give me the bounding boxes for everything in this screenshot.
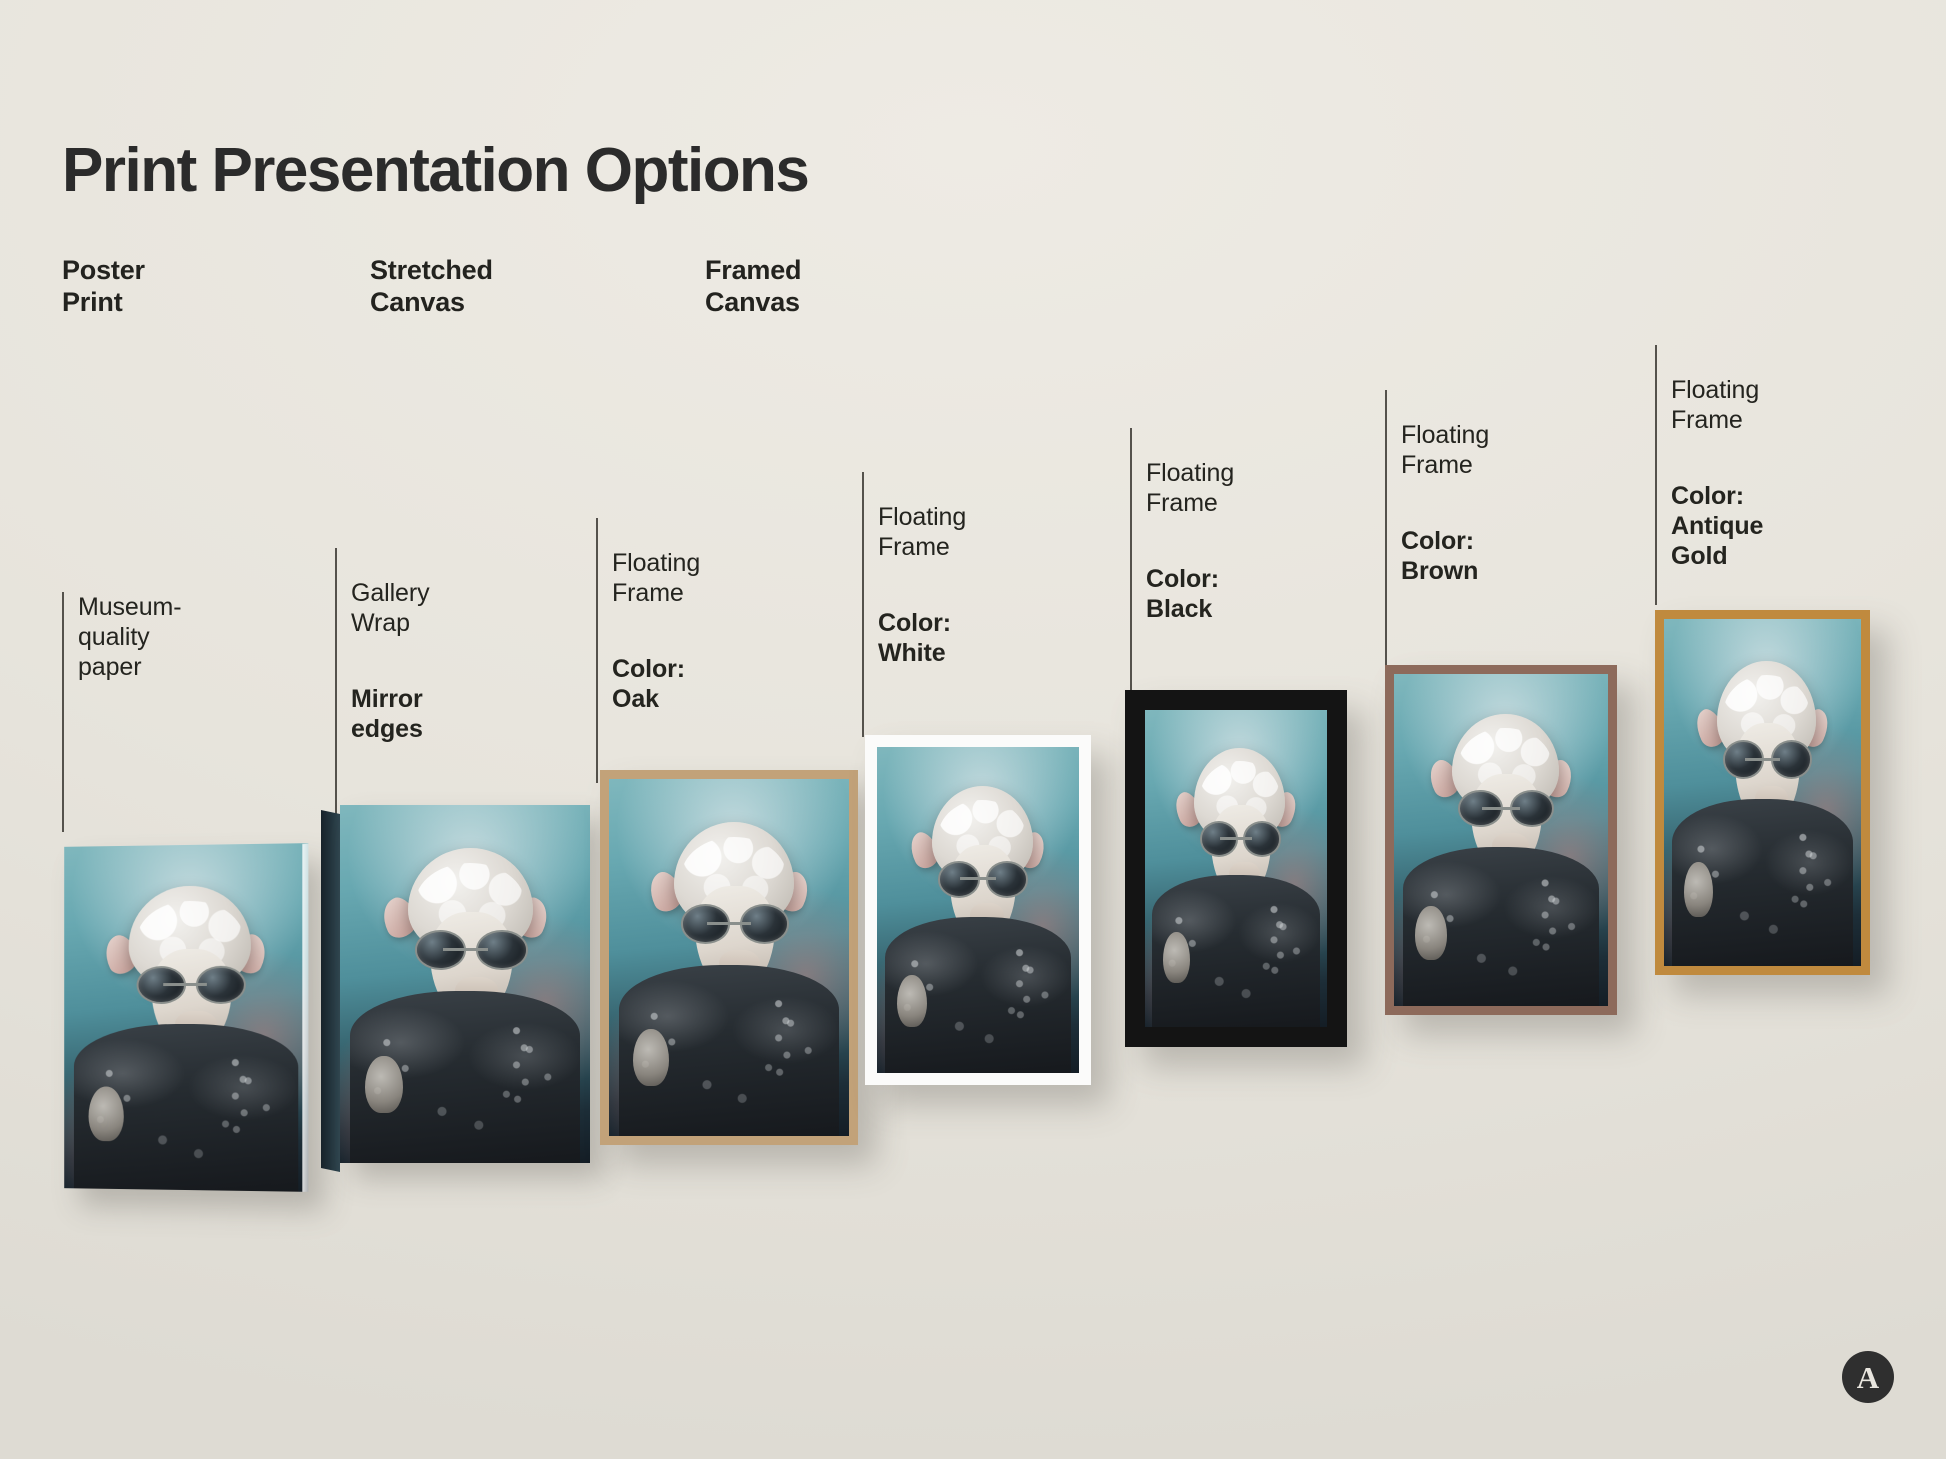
frame-inner (1145, 710, 1327, 1027)
callout-primary: Floating Frame (1401, 421, 1489, 479)
callout-floating-frame-oak: Floating Frame Color: Oak (596, 518, 700, 783)
category-heading-stretched-canvas: Stretched Canvas (370, 255, 493, 319)
category-heading-framed-canvas: Framed Canvas (705, 255, 801, 319)
frame-inner (1394, 674, 1608, 1006)
chain-motif (1531, 873, 1578, 973)
callout-text-floating-frame-white: Floating Frame Color: White (878, 472, 966, 698)
callout-floating-frame-brown: Floating Frame Color: Brown (1385, 390, 1489, 665)
artwork-floating-frame-oak[interactable] (600, 770, 858, 1145)
paper-curl (302, 843, 308, 1192)
callout-bold: Color: Brown (1401, 526, 1489, 586)
artwork-floating-frame-white[interactable] (865, 735, 1091, 1085)
callout-bold: Mirror edges (351, 684, 430, 744)
sunglasses-bridge (1482, 807, 1521, 810)
sheep-illustration (1394, 674, 1608, 1006)
callout-text-floating-frame-antique-gold: Floating Frame Color: Antique Gold (1671, 345, 1763, 601)
sheep-illustration (609, 779, 849, 1136)
sunglasses-bridge (960, 877, 996, 880)
frame-inner (1664, 619, 1861, 966)
sunglasses-bridge (1220, 837, 1253, 840)
callout-rule (1655, 345, 1657, 605)
artwork-poster-print[interactable] (64, 843, 308, 1192)
page-title: Print Presentation Options (62, 140, 808, 202)
canvas-mirror-edge (321, 810, 340, 1172)
sunglasses-bridge (443, 948, 488, 951)
callout-text-stretched-canvas: Gallery Wrap Mirror edges (351, 548, 430, 774)
callout-bold: Color: Antique Gold (1671, 481, 1763, 571)
chain-motif (1006, 943, 1050, 1041)
skull-motif (1415, 906, 1447, 959)
callout-primary: Floating Frame (1671, 376, 1759, 434)
callout-rule (596, 518, 598, 783)
callout-floating-frame-antique-gold: Floating Frame Color: Antique Gold (1655, 345, 1763, 605)
callout-stretched-canvas: Gallery Wrap Mirror edges (335, 548, 430, 833)
callout-bold: Color: Black (1146, 564, 1234, 624)
callout-text-poster-print: Museum- quality paper (78, 592, 182, 682)
brand-logo[interactable]: A (1842, 1351, 1894, 1403)
callout-bold: Color: Oak (612, 654, 700, 714)
callout-spacer (1146, 518, 1234, 534)
callout-rule (1385, 390, 1387, 665)
callout-spacer (1671, 435, 1763, 451)
callout-poster-print: Museum- quality paper (62, 592, 182, 832)
sheep-illustration (64, 843, 308, 1192)
callout-rule (335, 548, 337, 833)
callout-spacer (612, 608, 700, 624)
callout-bold: Color: White (878, 608, 966, 668)
callout-spacer (1401, 480, 1489, 496)
chain-motif (1262, 900, 1302, 995)
callout-text-floating-frame-brown: Floating Frame Color: Brown (1401, 390, 1489, 616)
category-heading-poster-print: Poster Print (62, 255, 145, 319)
sunglasses-bridge (163, 983, 207, 986)
callout-spacer (878, 562, 966, 578)
brand-logo-glyph: A (1857, 1362, 1879, 1393)
skull-motif (1684, 862, 1714, 918)
callout-rule (862, 472, 864, 737)
callout-rule (1130, 428, 1132, 698)
callout-primary: Floating Frame (612, 549, 700, 607)
sheep-illustration (877, 747, 1079, 1073)
callout-text-floating-frame-black: Floating Frame Color: Black (1146, 428, 1234, 654)
callout-primary: Gallery Wrap (351, 579, 430, 637)
callout-spacer (351, 638, 430, 654)
chain-motif (763, 993, 816, 1100)
frame-inner (877, 747, 1079, 1073)
callout-primary: Floating Frame (878, 503, 966, 561)
callout-text-floating-frame-oak: Floating Frame Color: Oak (612, 518, 700, 744)
canvas-face (340, 805, 590, 1163)
artwork-stretched-canvas[interactable] (340, 805, 590, 1163)
callout-floating-frame-black: Floating Frame Color: Black (1130, 428, 1234, 698)
artwork-floating-frame-brown[interactable] (1385, 665, 1617, 1015)
chain-motif (219, 1052, 273, 1156)
callout-floating-frame-white: Floating Frame Color: White (862, 472, 966, 737)
chain-motif (500, 1020, 555, 1127)
chain-motif (1790, 827, 1833, 931)
sheep-illustration (1664, 619, 1861, 966)
skull-motif (633, 1029, 669, 1086)
sunglasses-bridge (707, 922, 750, 925)
callout-rule (62, 592, 64, 832)
sheep-illustration (340, 805, 590, 1163)
sunglasses-bridge (1745, 758, 1780, 761)
skull-motif (365, 1056, 403, 1113)
artwork-floating-frame-antique-gold[interactable] (1655, 610, 1870, 975)
callout-primary: Floating Frame (1146, 459, 1234, 517)
skull-motif (897, 975, 927, 1027)
artwork-floating-frame-black[interactable] (1125, 690, 1347, 1047)
frame-inner (609, 779, 849, 1136)
sheep-illustration (1145, 710, 1327, 1027)
presentation-canvas: Print Presentation Options Poster Print … (0, 0, 1946, 1459)
